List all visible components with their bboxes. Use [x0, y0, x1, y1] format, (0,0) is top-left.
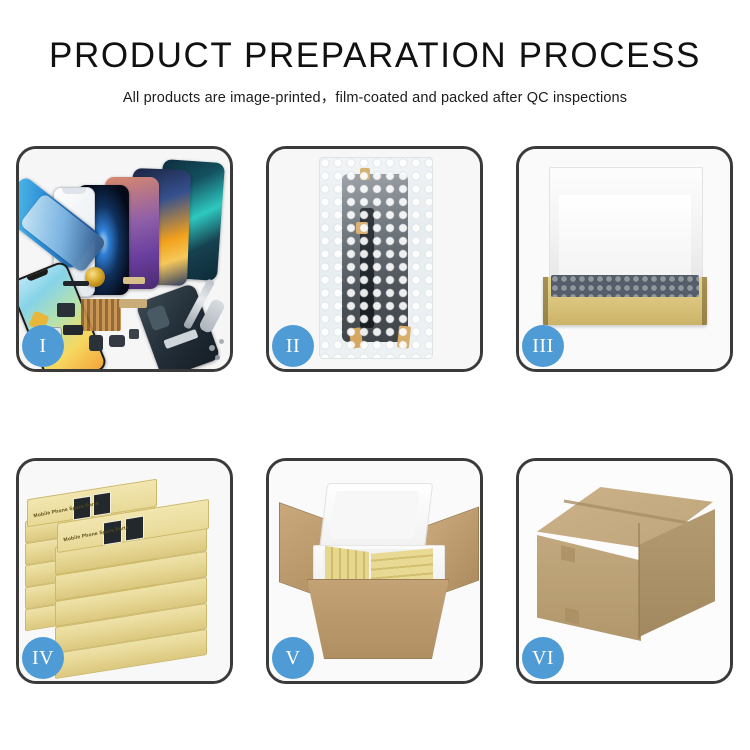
step-badge-1: I [22, 325, 64, 367]
flex-cable-5 [63, 325, 83, 335]
step-badge-6: VI [522, 637, 564, 679]
step-badge-3: III [522, 325, 564, 367]
page-subtitle: All products are image-printed，film-coat… [0, 86, 750, 107]
carton-tape-patch-2 [565, 607, 579, 624]
bubble-wrap-bag [319, 157, 433, 359]
header: PRODUCT PREPARATION PROCESS All products… [0, 0, 750, 107]
carton-vertical-edge [638, 523, 640, 639]
flex-cable-3 [119, 299, 147, 308]
foam-cooler-lid-inner [330, 491, 420, 539]
box-edge-left [543, 277, 548, 325]
process-step-3: III [516, 146, 733, 372]
speaker-component [89, 335, 103, 351]
box-edge-right [702, 277, 707, 325]
step-badge-2: II [272, 325, 314, 367]
flex-cable-4 [57, 303, 75, 317]
screw-grid-component [81, 299, 121, 331]
screw-2 [219, 339, 224, 344]
small-chip [129, 329, 139, 339]
flex-cable-2 [123, 277, 145, 284]
carton-tape-patch-1 [561, 545, 575, 562]
carton-body [307, 579, 449, 659]
step-badge-5: V [272, 637, 314, 679]
bubble-texture [320, 158, 432, 358]
process-step-6: VI [516, 458, 733, 684]
process-step-1: I [16, 146, 233, 372]
page-title: PRODUCT PREPARATION PROCESS [0, 38, 750, 73]
flex-cable-1 [63, 281, 89, 286]
foam-sheet [559, 195, 691, 277]
product-preparation-infographic: PRODUCT PREPARATION PROCESS All products… [0, 0, 750, 750]
screw-1 [209, 345, 215, 351]
carton-front-face [537, 535, 641, 641]
process-step-grid: I II [16, 146, 734, 686]
bubble-wrapped-contents [551, 275, 699, 297]
process-step-5: V [266, 458, 483, 684]
process-step-4: Mobile Phone Spare Parts Mobile Phone Sp… [16, 458, 233, 684]
step-badge-4: IV [22, 637, 64, 679]
camera-module [109, 335, 125, 347]
process-step-2: II [266, 146, 483, 372]
screw-3 [215, 355, 220, 360]
